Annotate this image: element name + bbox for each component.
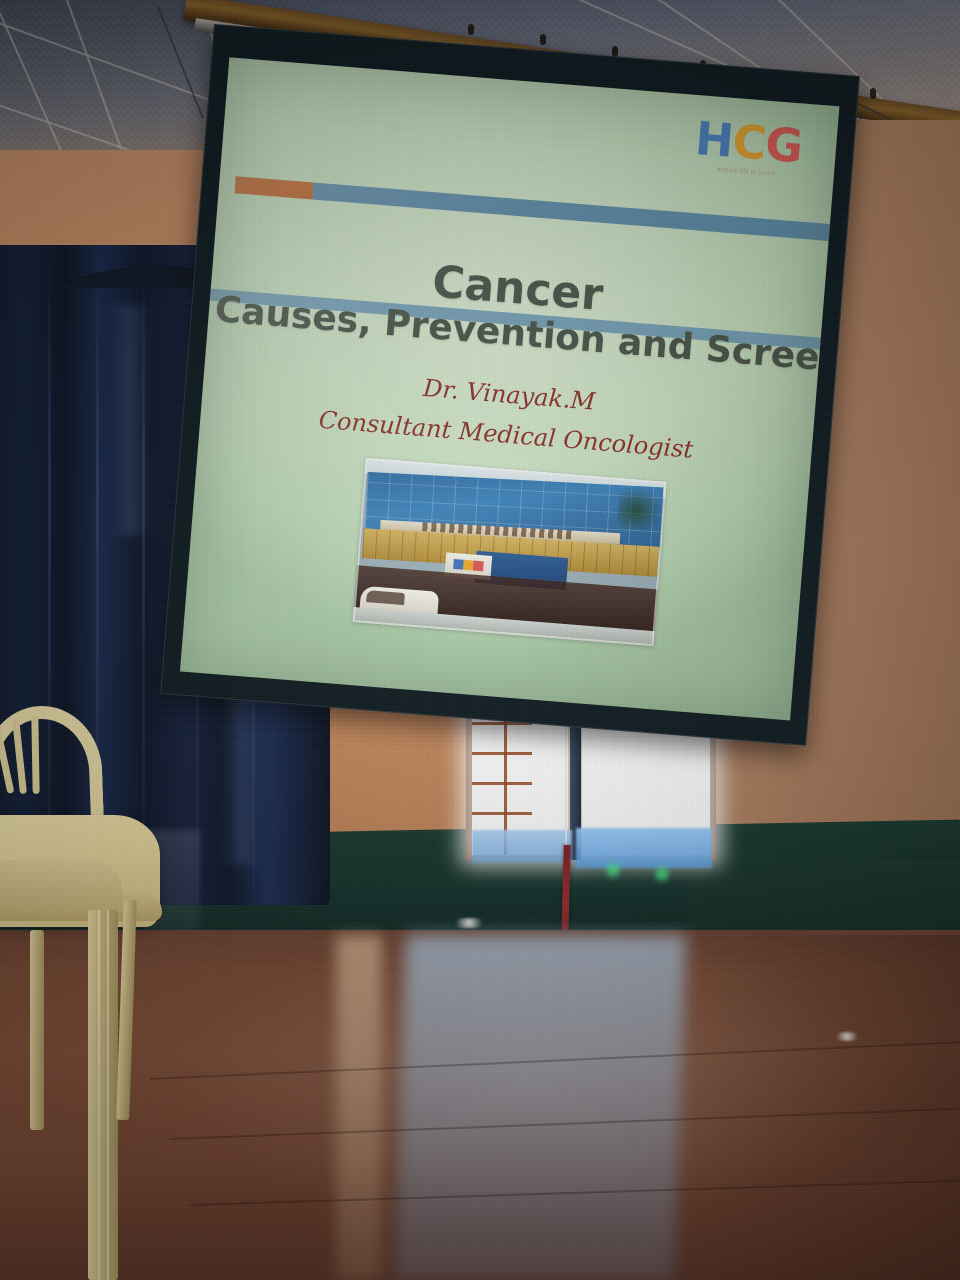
window-grille-bar	[472, 812, 532, 815]
hcg-logo: HCG adding life to years	[693, 115, 804, 179]
chair-leg	[30, 930, 44, 1130]
projector-screen[interactable]: HCG adding life to years Cancer Causes, …	[160, 24, 860, 746]
chair-seat	[0, 860, 122, 906]
floor-glint	[832, 1032, 862, 1041]
room-scene: HCG adding life to years Cancer Causes, …	[0, 0, 960, 1280]
window-sheer-right	[576, 828, 712, 868]
table-leg	[88, 910, 118, 1280]
floor-shadow-right	[700, 935, 960, 1280]
photo-border	[352, 458, 666, 647]
hospital-building-photo	[352, 458, 666, 647]
hcg-logo-letters: HCG	[694, 115, 804, 169]
hcg-letter-h: H	[693, 111, 735, 168]
chair-slat	[31, 716, 39, 794]
hcg-letter-c: C	[731, 114, 768, 170]
curtain-highlight	[108, 305, 152, 535]
window-grille-bar	[472, 752, 532, 755]
slide-accent-orange	[234, 176, 313, 199]
slide-accent-blue	[312, 182, 830, 240]
screen-cord-wire	[565, 706, 567, 848]
beam-hook	[870, 88, 876, 99]
window-grille-bar	[472, 782, 532, 785]
beam-hook	[540, 34, 546, 45]
green-light-glint	[654, 862, 670, 886]
table-leg-highlight	[98, 910, 100, 1280]
beam-hook	[468, 24, 474, 35]
green-light-glint	[605, 858, 621, 882]
slide-surface: HCG adding life to years Cancer Causes, …	[180, 57, 839, 720]
floor-glint	[450, 918, 488, 928]
table-leg-highlight	[107, 910, 109, 1280]
hcg-letter-g: G	[763, 117, 804, 174]
window-sheer-left	[472, 830, 572, 862]
